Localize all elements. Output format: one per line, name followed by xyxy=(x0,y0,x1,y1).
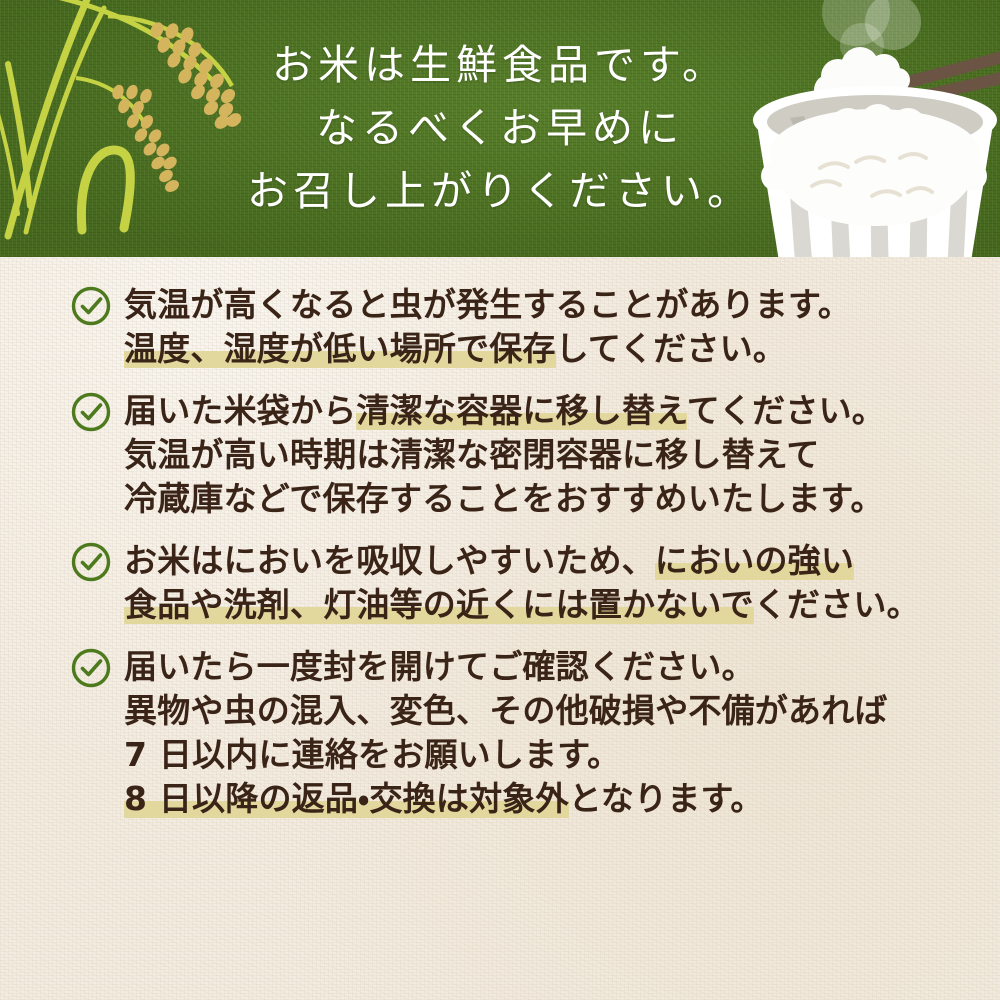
check-circle-icon xyxy=(70,391,112,433)
poster: お米は生鮮食品です。 なるべくお早めに お召し上がりください。 気温が高くなると… xyxy=(0,0,1000,1000)
highlighted-text: 8 日以降の返品・交換は対象外 xyxy=(124,779,569,818)
notice-line: 冷蔵庫などで保存することをおすすめいたします。 xyxy=(124,477,1000,521)
notice-line: 届いたら一度封を開けてご確認ください。 xyxy=(124,645,1000,689)
plain-text: 7 日以内に連絡をお願いします。 xyxy=(124,735,620,774)
notice-line: 気温が高くなると虫が発生することがあります。 xyxy=(124,283,1000,327)
highlighted-text: 清潔な容器に移し替え xyxy=(356,391,686,430)
notice-line: 気温が高い時期は清潔な密閉容器に移し替えて xyxy=(124,433,1000,477)
notice-item: 届いた米袋から清潔な容器に移し替えてください。気温が高い時期は清潔な密閉容器に移… xyxy=(0,389,1000,521)
notice-line: 温度、湿度が低い場所で保存してください。 xyxy=(124,327,1000,371)
plain-text: となります。 xyxy=(569,779,764,818)
notice-item: お米はにおいを吸収しやすいため、においの強い食品や洗剤、灯油等の近くには置かない… xyxy=(0,539,1000,627)
title-line-3: お召し上がりください。 xyxy=(247,160,753,223)
header-banner: お米は生鮮食品です。 なるべくお早めに お召し上がりください。 xyxy=(0,0,1000,257)
notice-line: お米はにおいを吸収しやすいため、においの強い xyxy=(124,539,1000,583)
notice-list: 気温が高くなると虫が発生することがあります。温度、湿度が低い場所で保存してくださ… xyxy=(0,257,1000,839)
plain-text: 異物や虫の混入、変色、その他破損や不備があれば xyxy=(124,691,888,730)
highlighted-text: 食品や洗剤、灯油等の近くには置かないで xyxy=(124,585,754,624)
notice-line: 異物や虫の混入、変色、その他破損や不備があれば xyxy=(124,689,1000,733)
notice-line: 届いた米袋から清潔な容器に移し替えてください。 xyxy=(124,389,1000,433)
page-title: お米は生鮮食品です。 なるべくお早めに お召し上がりください。 xyxy=(0,0,1000,257)
plain-text: 冷蔵庫などで保存することをおすすめいたします。 xyxy=(124,479,884,518)
notice-item: 気温が高くなると虫が発生することがあります。温度、湿度が低い場所で保存してくださ… xyxy=(0,283,1000,371)
highlighted-text: においの強い xyxy=(655,541,854,580)
notice-item-text: 届いたら一度封を開けてご確認ください。異物や虫の混入、変色、その他破損や不備があ… xyxy=(124,645,1000,821)
plain-text: 気温が高い時期は清潔な密閉容器に移し替えて xyxy=(124,435,820,474)
notice-line: 8 日以降の返品・交換は対象外となります。 xyxy=(124,777,1000,821)
check-circle-icon xyxy=(70,647,112,689)
plain-text: 気温が高くなると虫が発生することがあります。 xyxy=(124,285,851,324)
check-circle-icon xyxy=(70,285,112,327)
title-line-1: お米は生鮮食品です。 xyxy=(272,34,728,97)
plain-text: 届いたら一度封を開けてご確認ください。 xyxy=(124,647,755,686)
notice-item-text: 届いた米袋から清潔な容器に移し替えてください。気温が高い時期は清潔な密閉容器に移… xyxy=(124,389,1000,521)
notice-item-text: 気温が高くなると虫が発生することがあります。温度、湿度が低い場所で保存してくださ… xyxy=(124,283,1000,371)
notice-line: 7 日以内に連絡をお願いします。 xyxy=(124,733,1000,777)
plain-text: お米はにおいを吸収しやすいため、 xyxy=(124,541,655,580)
plain-text: 届いた米袋から xyxy=(124,391,356,430)
plain-text: ください。 xyxy=(754,585,920,624)
title-line-2: なるべくお早めに xyxy=(316,97,684,160)
notice-line: 食品や洗剤、灯油等の近くには置かないでください。 xyxy=(124,583,1000,627)
plain-text: てください。 xyxy=(687,391,885,430)
notice-item: 届いたら一度封を開けてご確認ください。異物や虫の混入、変色、その他破損や不備があ… xyxy=(0,645,1000,821)
check-circle-icon xyxy=(70,541,112,583)
plain-text: してください。 xyxy=(556,329,786,368)
highlighted-text: 温度、湿度が低い場所で保存 xyxy=(124,329,556,368)
notice-item-text: お米はにおいを吸収しやすいため、においの強い食品や洗剤、灯油等の近くには置かない… xyxy=(124,539,1000,627)
